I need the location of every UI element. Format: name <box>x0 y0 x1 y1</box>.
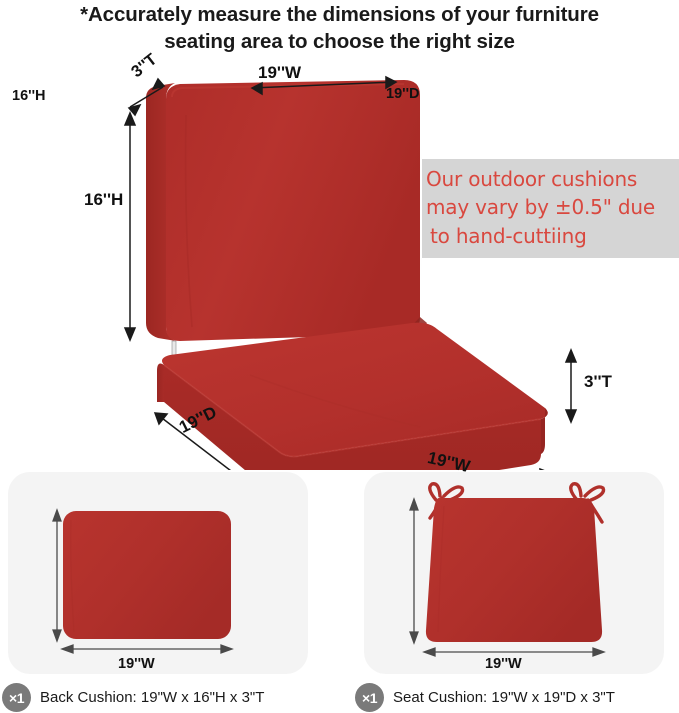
seat-cushion-side <box>157 363 164 402</box>
back-cushion-drawing <box>8 472 308 674</box>
seat-panel-dim-depth: 19''D <box>386 86 420 102</box>
seat-cushion-caption: ×1 Seat Cushion: 19"W x 19"D x 3"T <box>355 683 615 712</box>
seat-cushion-shape <box>426 498 602 642</box>
hero-illustration: 19''W 3''T 16''H 19''D 19''W 3''T <box>0 55 679 470</box>
seat-cushion-panel <box>364 472 664 674</box>
variance-note-line-2: may vary by ±0.5" due <box>426 193 679 221</box>
quantity-badge: ×1 <box>355 683 384 712</box>
seat-cushion-drawing <box>364 472 664 674</box>
variance-note: Our outdoor cushions may vary by ±0.5" d… <box>422 159 679 258</box>
cushion-panels <box>0 472 679 713</box>
seat-cushion-caption-text: Seat Cushion: 19"W x 19"D x 3"T <box>393 689 615 706</box>
hero-dim-thickness-seat: 3''T <box>584 372 612 392</box>
variance-note-line-1: Our outdoor cushions <box>426 165 679 193</box>
quantity-badge: ×1 <box>2 683 31 712</box>
page-title: *Accurately measure the dimensions of yo… <box>0 2 679 55</box>
back-panel-dim-width: 19''W <box>118 656 155 672</box>
variance-note-line-3: to hand-cuttiing <box>430 222 679 250</box>
hero-dim-height-back: 16''H <box>84 190 123 210</box>
back-cushion-face <box>166 80 420 341</box>
page-title-line-2: seating area to choose the right size <box>0 29 679 56</box>
care-tag <box>172 341 176 355</box>
product-dimension-infographic: *Accurately measure the dimensions of yo… <box>0 0 679 713</box>
back-cushion-panel <box>8 472 308 674</box>
hero-dim-width-top: 19''W <box>258 63 301 83</box>
back-panel-dim-height: 16''H <box>12 88 46 104</box>
page-title-line-1: *Accurately measure the dimensions of yo… <box>0 2 679 29</box>
back-cushion-caption: ×1 Back Cushion: 19"W x 16"H x 3"T <box>2 683 264 712</box>
seat-panel-dim-width: 19''W <box>485 656 522 672</box>
back-cushion-caption-text: Back Cushion: 19"W x 16"H x 3"T <box>40 689 264 706</box>
cushion-set-drawing <box>0 55 679 470</box>
back-cushion-shape <box>63 511 231 639</box>
